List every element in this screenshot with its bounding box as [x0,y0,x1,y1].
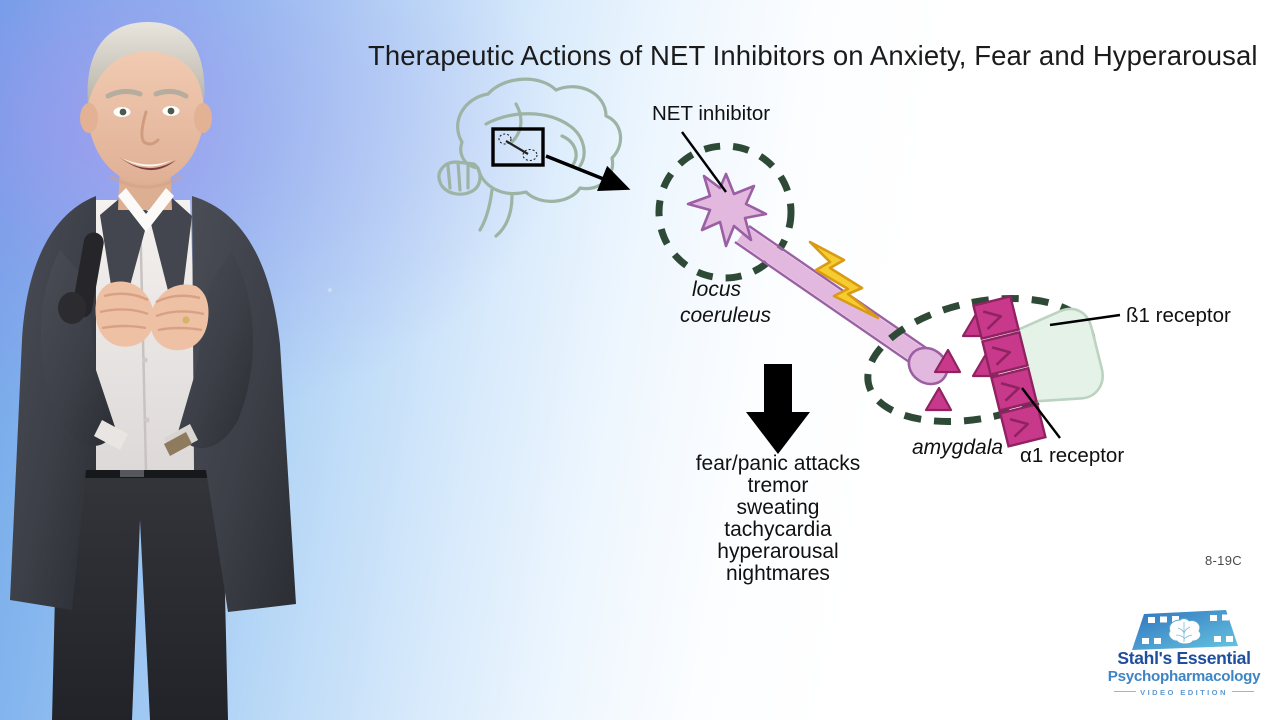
presenter-ring [182,316,189,323]
brain-outline-icon [439,79,621,236]
presenter-pupil-right [168,108,175,115]
receptor [973,296,1018,338]
symptom-item: hyperarousal [717,540,838,563]
figure-number: 8-19C [1205,553,1242,568]
brand-line-3: VIDEO EDITION [1098,689,1270,697]
net-inhibitor-label: NET inhibitor [652,102,770,125]
neurotransmitter-triangle [926,388,951,410]
diagram-figure: NET inhibitor locus coeruleus [420,70,1240,590]
amygdala-label: amygdala [912,436,1003,459]
symptom-list: fear/panic attacks tremor sweating tachy… [696,452,861,585]
brand-logo: Stahl's Essential Psychopharmacology VID… [1098,608,1270,704]
receptor [991,368,1036,410]
alpha1-receptor-label: α1 receptor [1020,444,1124,467]
beta1-receptor-label: ß1 receptor [1126,304,1231,327]
brain-zoom-box-mini-neuron [499,134,537,161]
symptom-item: nightmares [726,562,830,585]
receptor [982,332,1027,374]
presenter-figure [10,22,296,720]
locus-coeruleus-label-line2: coeruleus [680,304,772,327]
symptom-item: sweating [737,496,820,519]
presenter-pupil-left [120,109,127,116]
presenter-shirt-button [142,357,147,362]
brand-logo-text: Stahl's Essential Psychopharmacology VID… [1098,650,1270,696]
brand-line-1: Stahl's Essential [1098,650,1270,668]
symptom-item: tachycardia [724,518,832,541]
presenter-microphone-head [58,292,86,324]
slide-canvas: Therapeutic Actions of NET Inhibitors on… [0,0,1280,720]
presenter-ear-left [80,103,98,133]
brand-line-3-text: VIDEO EDITION [1140,688,1228,697]
locus-coeruleus-label-line1: locus [692,278,742,301]
downstream-arrow-icon [746,364,810,454]
symptom-item: fear/panic attacks [696,452,861,475]
page-title: Therapeutic Actions of NET Inhibitors on… [368,40,1258,72]
presenter-video [0,0,360,720]
brand-line-2: Psychopharmacology [1098,669,1270,684]
net-inhibitor-leader-line [682,132,726,192]
presenter-ear-right [194,103,212,133]
presenter-shirt-button [144,417,149,422]
symptom-item: tremor [748,474,809,497]
